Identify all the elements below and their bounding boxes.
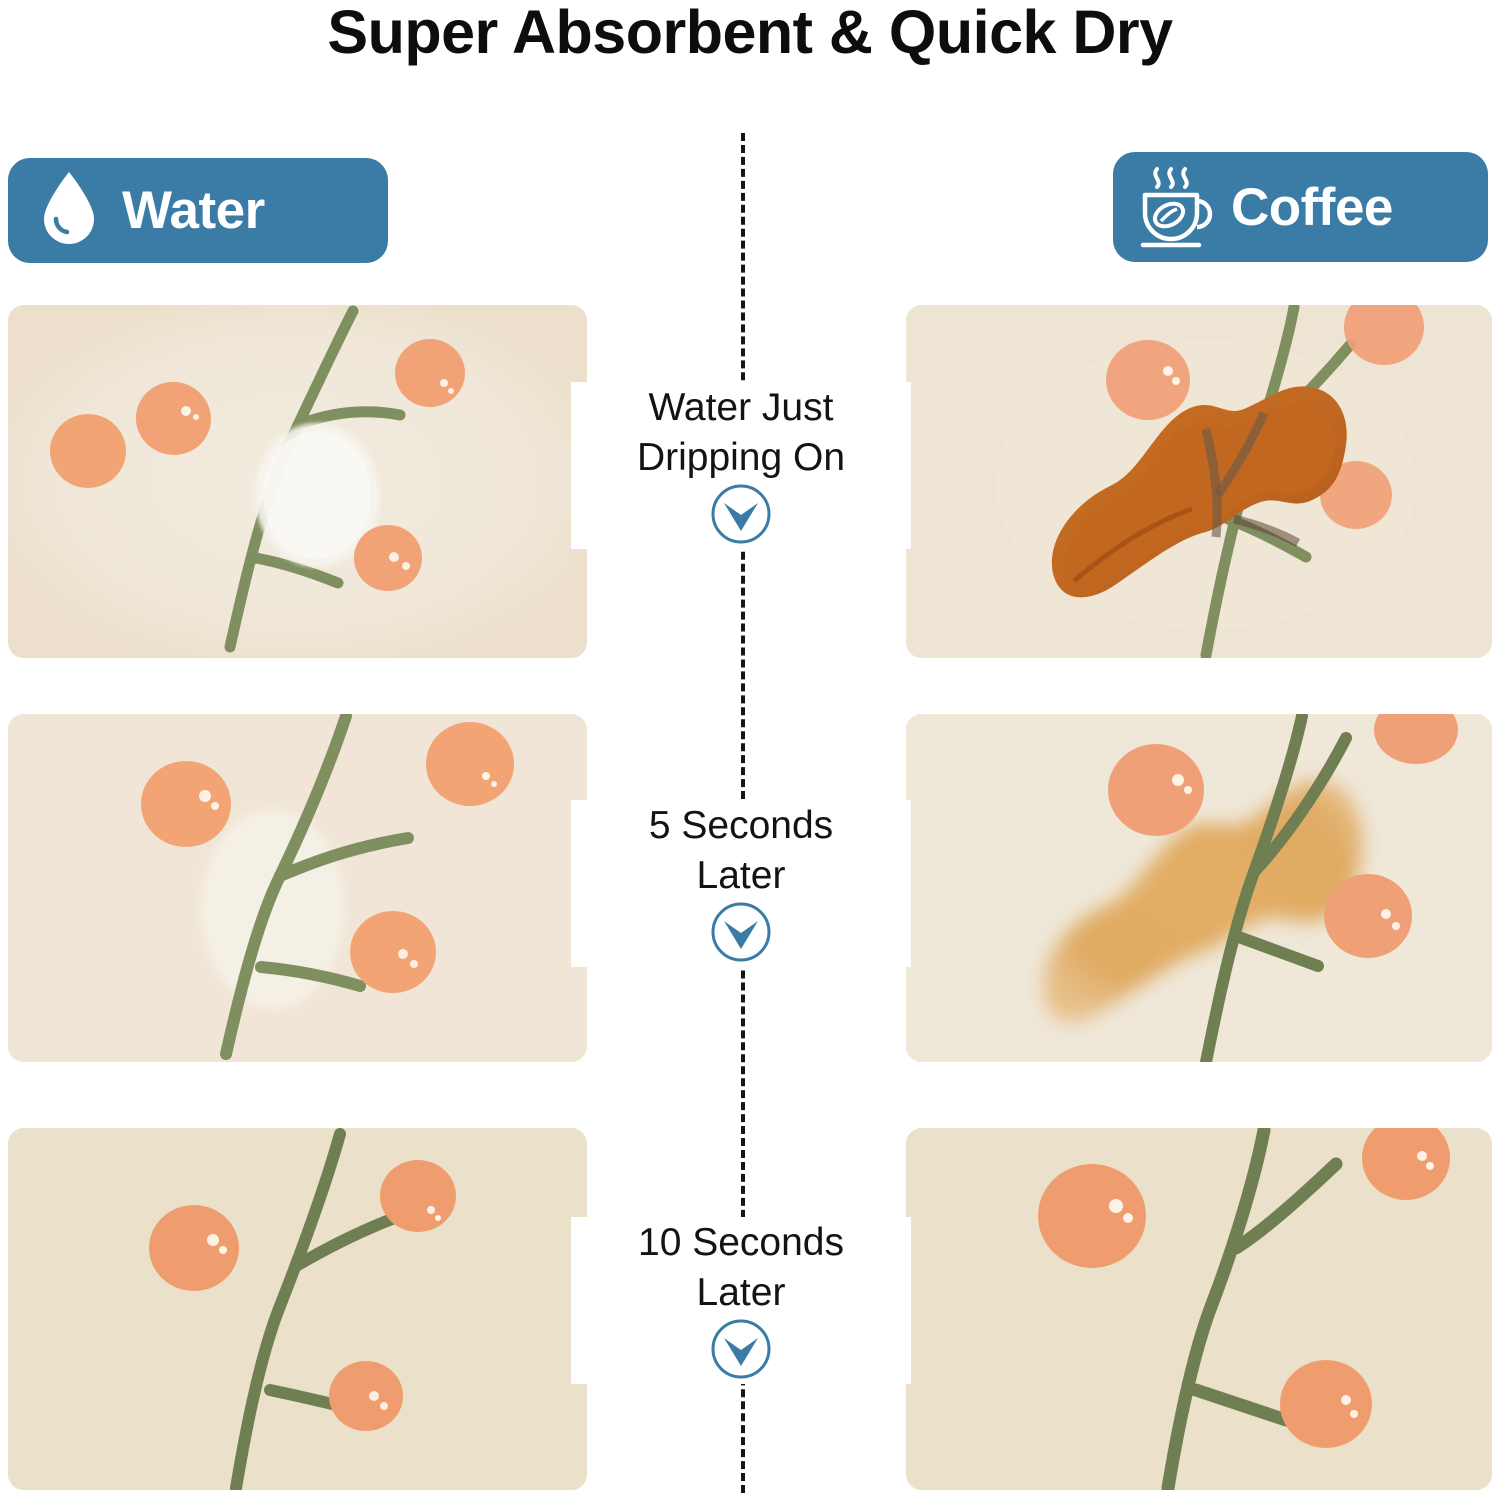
badge-coffee: Coffee: [1113, 152, 1488, 262]
step-3-line1: 10 Seconds: [571, 1217, 911, 1267]
step-1-line2: Dripping On: [571, 432, 911, 482]
step-1: Water Just Dripping On: [571, 382, 911, 549]
badge-water: Water: [8, 158, 388, 263]
step-2-line1: 5 Seconds: [571, 800, 911, 850]
step-1-line1: Water Just: [571, 382, 911, 432]
step-2-line2: Later: [571, 850, 911, 900]
panel-water-stage-3: [8, 1128, 587, 1490]
step-2: 5 Seconds Later: [571, 800, 911, 967]
step-3: 10 Seconds Later: [571, 1217, 911, 1384]
page-title: Super Absorbent & Quick Dry: [0, 2, 1500, 63]
coffee-cup-icon: [1137, 159, 1221, 256]
panel-coffee-stage-1: [906, 305, 1492, 658]
water-drop-icon: [38, 169, 100, 252]
badge-coffee-label: Coffee: [1231, 181, 1393, 234]
badge-water-label: Water: [122, 184, 265, 237]
step-3-line2: Later: [571, 1267, 911, 1317]
panel-coffee-stage-2: [906, 714, 1492, 1062]
panel-water-stage-1: [8, 305, 587, 658]
panel-water-stage-2: [8, 714, 587, 1062]
chevron-down-icon: [710, 1318, 772, 1380]
chevron-down-icon: [710, 483, 772, 545]
panel-coffee-stage-3: [906, 1128, 1492, 1490]
chevron-down-icon: [710, 901, 772, 963]
